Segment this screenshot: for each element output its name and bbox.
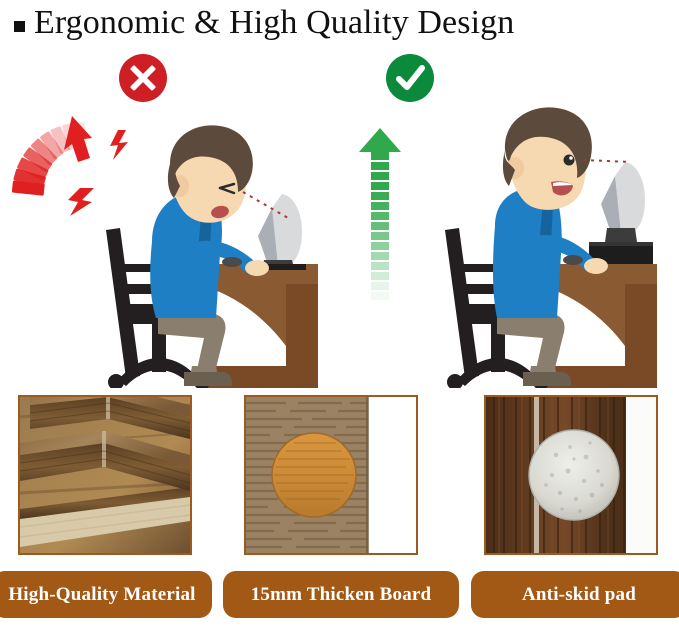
badge-high-quality-material[interactable]: High-Quality Material bbox=[0, 571, 212, 618]
page-header: Ergonomic & High Quality Design bbox=[0, 0, 679, 46]
feature-badge-row: High-Quality Material 15mm Thicken Board… bbox=[0, 571, 679, 621]
bad-posture-scene bbox=[0, 46, 340, 388]
square-bullet-icon bbox=[14, 21, 25, 32]
badge-15mm-thicken-board[interactable]: 15mm Thicken Board bbox=[223, 571, 459, 618]
thicken-board-circle-photo bbox=[244, 395, 418, 555]
good-posture-scene bbox=[339, 46, 679, 388]
badge-anti-skid-pad[interactable]: Anti-skid pad bbox=[471, 571, 679, 618]
stacked-plywood-boards-photo bbox=[18, 395, 192, 555]
anti-skid-pad-photo bbox=[484, 395, 658, 555]
badge-label: Anti-skid pad bbox=[522, 584, 636, 606]
badge-label: High-Quality Material bbox=[8, 584, 195, 606]
product-infographic: Ergonomic & High Quality Design bbox=[0, 0, 679, 630]
badge-label: 15mm Thicken Board bbox=[251, 584, 432, 606]
slouched-person-at-desk-figure bbox=[0, 46, 340, 393]
product-photo-row bbox=[0, 395, 679, 555]
page-title: Ergonomic & High Quality Design bbox=[34, 4, 514, 42]
upright-person-at-desk-figure bbox=[339, 46, 679, 393]
posture-comparison-illustration bbox=[0, 46, 679, 388]
